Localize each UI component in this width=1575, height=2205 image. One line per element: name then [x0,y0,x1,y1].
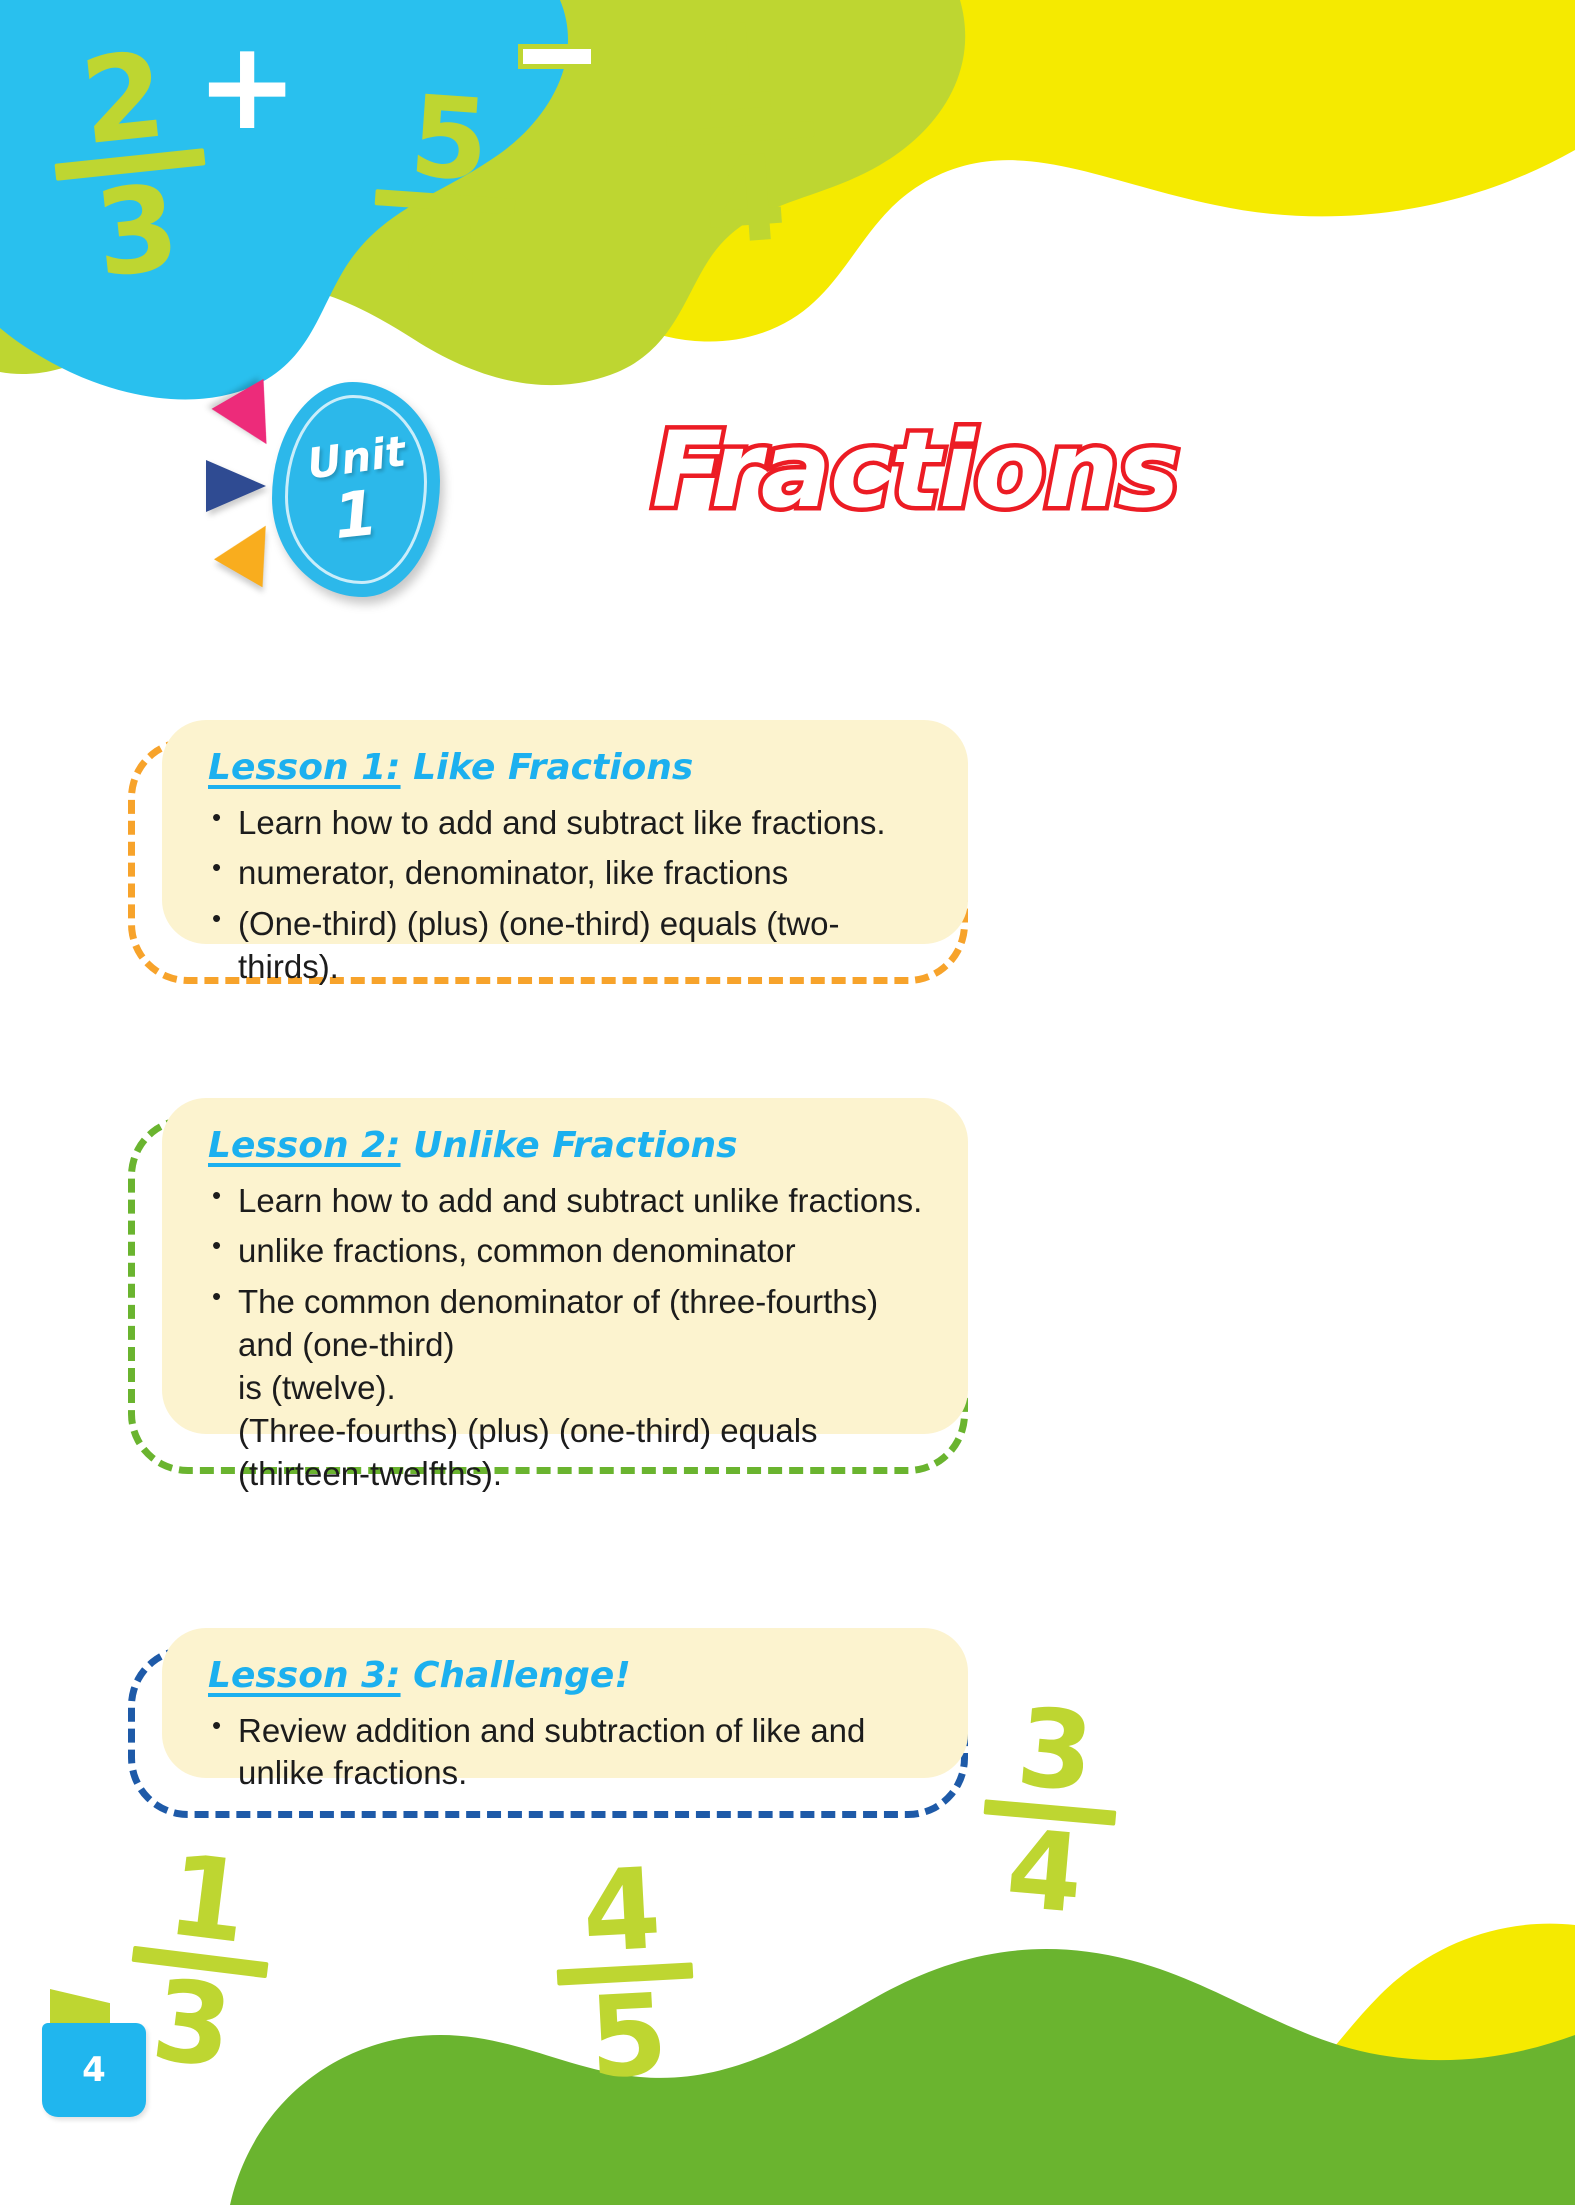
fraction-bar [666,121,815,147]
list-item: (One-third) (plus) (one-third) equals (t… [208,903,928,989]
background-blobs-bottom [0,1865,1575,2205]
empty-answer-box [518,44,596,69]
lesson-box-2: Lesson 2: Unlike Fractions Learn how to … [128,1116,968,1474]
decorative-fraction-1-4: 1 4 [642,6,839,262]
plus-icon: + [196,25,298,147]
list-item: numerator, denominator, like fractions [208,852,928,895]
list-item: unlike fractions, common denominator [208,1230,928,1273]
fraction-bar [984,1799,1117,1825]
fraction-denominator: 6 [352,206,529,324]
fraction-bar [557,1963,694,1986]
fraction-numerator: 1 [122,1837,294,1962]
lesson-heading: Lesson 3: Challenge! [208,1656,928,1696]
lesson-box-1: Lesson 1: Like Fractions Learn how to ad… [128,738,968,984]
lesson-name: Challenge! [401,1655,631,1696]
fraction-numerator: 3 [976,1694,1134,1809]
lesson-bullet-list: Learn how to add and subtract unlike fra… [208,1180,928,1496]
fraction-denominator: 3 [42,166,233,296]
decorative-fraction-4-5: 4 5 [539,1854,711,2095]
page-number: 4 [82,2050,106,2090]
fraction-numerator: 1 [642,6,829,130]
page-number-tab: 4 [42,2023,146,2117]
lesson-name: Unlike Fractions [401,1125,738,1166]
lesson-bullet-list: Learn how to add and subtract like fract… [208,802,928,990]
fraction-bar [132,1946,269,1978]
unit-number: 1 [331,482,380,548]
fraction-numerator: 5 [361,80,538,198]
list-item: Review addition and subtraction of like … [208,1710,928,1796]
lesson-card: Lesson 1: Like Fractions Learn how to ad… [162,720,968,944]
fraction-numerator: 4 [539,1854,704,1969]
unit-badge: Unit 1 [272,382,440,597]
fraction-denominator: 4 [966,1815,1124,1930]
unit-badge-group: Unit 1 [200,382,440,597]
lesson-label: Lesson 1: [208,747,401,788]
fraction-denominator: 5 [546,1980,711,2095]
page-title: Fractions [652,418,1179,522]
fraction-bar [375,190,516,216]
fraction-denominator: 4 [651,138,838,262]
fraction-numerator: 2 [28,33,219,163]
workbook-page: 2 3 + 5 6 1 4 3 4 1 3 4 5 Unit 1 [0,0,1575,2205]
lesson-label: Lesson 2: [208,1125,401,1166]
lesson-box-3: Lesson 3: Challenge! Review addition and… [128,1646,968,1818]
decorative-fraction-5-6: 5 6 [352,80,538,324]
lesson-heading: Lesson 2: Unlike Fractions [208,1126,928,1166]
list-item: The common denominator of (three-fourths… [208,1281,928,1495]
lesson-card: Lesson 2: Unlike Fractions Learn how to … [162,1098,968,1434]
lesson-name: Like Fractions [401,747,694,788]
lesson-label: Lesson 3: [208,1655,401,1696]
lesson-heading: Lesson 1: Like Fractions [208,748,928,788]
list-item: Learn how to add and subtract like fract… [208,802,928,845]
fraction-bar [55,148,206,181]
decorative-fraction-3-4: 3 4 [966,1694,1135,1930]
lesson-bullet-list: Review addition and subtraction of like … [208,1710,928,1796]
ray-blue-icon [206,460,266,512]
lesson-card: Lesson 3: Challenge! Review addition and… [162,1628,968,1778]
list-item: Learn how to add and subtract unlike fra… [208,1180,928,1223]
